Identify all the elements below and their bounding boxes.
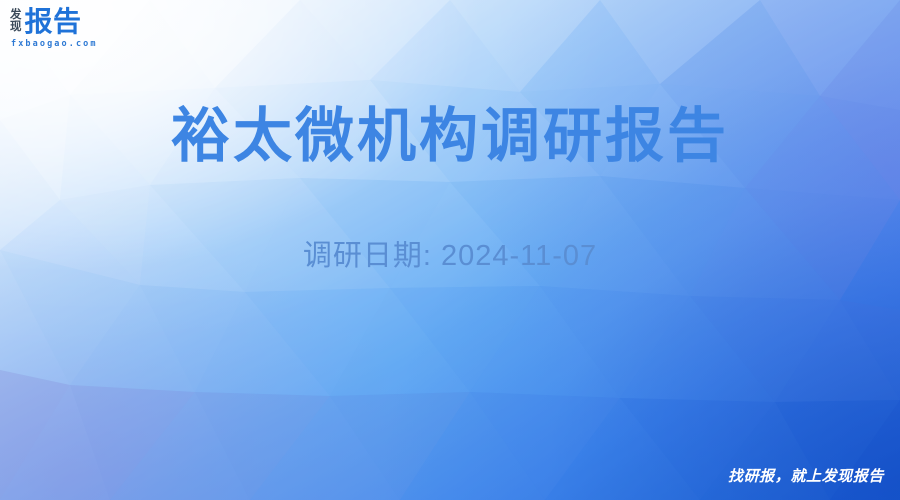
report-cover-slide: 发 现 报告 fxbaogao.com 裕太微机构调研报告 调研日期: 2024… (0, 0, 900, 500)
site-logo[interactable]: 发 现 报告 fxbaogao.com (10, 8, 98, 49)
cover-title: 裕太微机构调研报告 (0, 88, 900, 173)
logo-stacked-characters: 发 现 (10, 10, 22, 34)
logo-url: fxbaogao.com (11, 39, 98, 49)
logo-wordmark-row: 发 现 报告 (10, 8, 82, 36)
logo-wordmark: 报告 (25, 8, 82, 36)
cover-subtitle-survey-date: 调研日期: 2024-11-07 (0, 232, 900, 274)
logo-char-xian: 现 (10, 22, 22, 34)
logo-char-fa: 发 (10, 10, 22, 22)
footer-tagline: 找研报，就上发现报告 (728, 465, 884, 486)
